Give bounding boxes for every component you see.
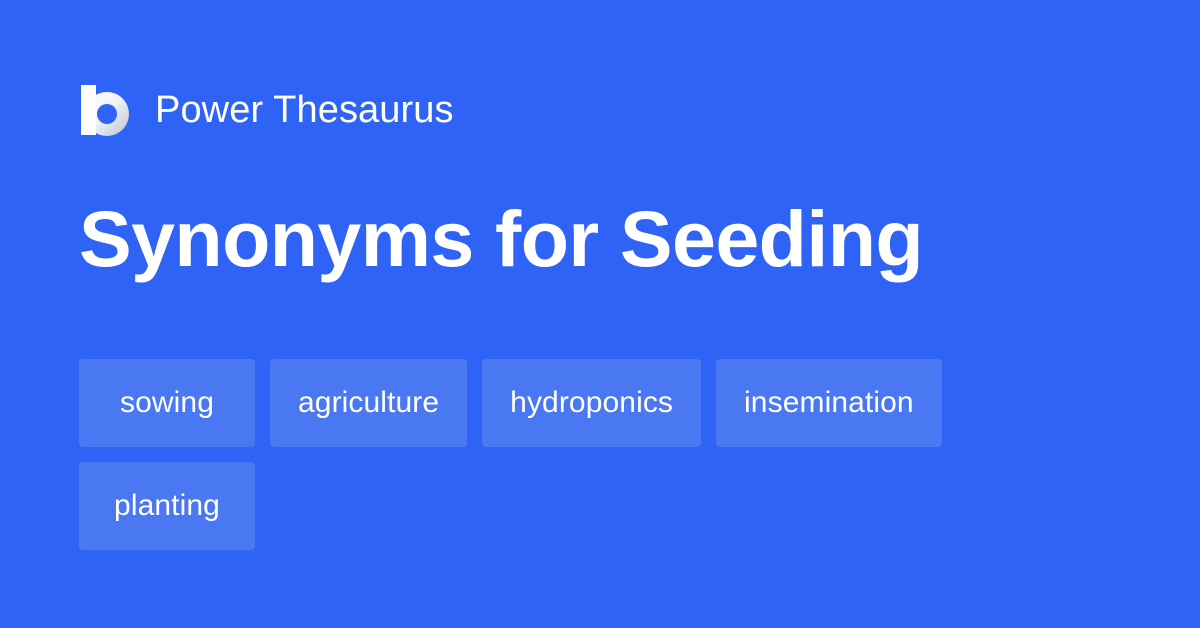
synonym-chip-label: agriculture: [298, 388, 439, 418]
synonym-chip[interactable]: agriculture: [270, 359, 467, 447]
synonym-chip-label: planting: [114, 491, 220, 521]
synonym-chip-list: sowing agriculture hydroponics inseminat…: [79, 359, 1129, 550]
synonym-chip[interactable]: sowing: [79, 359, 255, 447]
synonym-chip-label: sowing: [120, 388, 214, 418]
synonym-chip[interactable]: insemination: [716, 359, 942, 447]
brand-header[interactable]: power thesaurus: [79, 82, 454, 138]
brand-name: power thesaurus: [155, 91, 454, 129]
synonyms-share-card: power thesaurus Synonyms for Seeding sow…: [0, 0, 1200, 628]
page-title: Synonyms for Seeding: [79, 198, 923, 280]
synonym-chip-label: hydroponics: [510, 388, 673, 418]
synonym-chip-label: insemination: [744, 388, 914, 418]
power-thesaurus-b-logo-icon: [79, 83, 131, 137]
synonym-chip[interactable]: planting: [79, 462, 255, 550]
synonym-chip[interactable]: hydroponics: [482, 359, 701, 447]
